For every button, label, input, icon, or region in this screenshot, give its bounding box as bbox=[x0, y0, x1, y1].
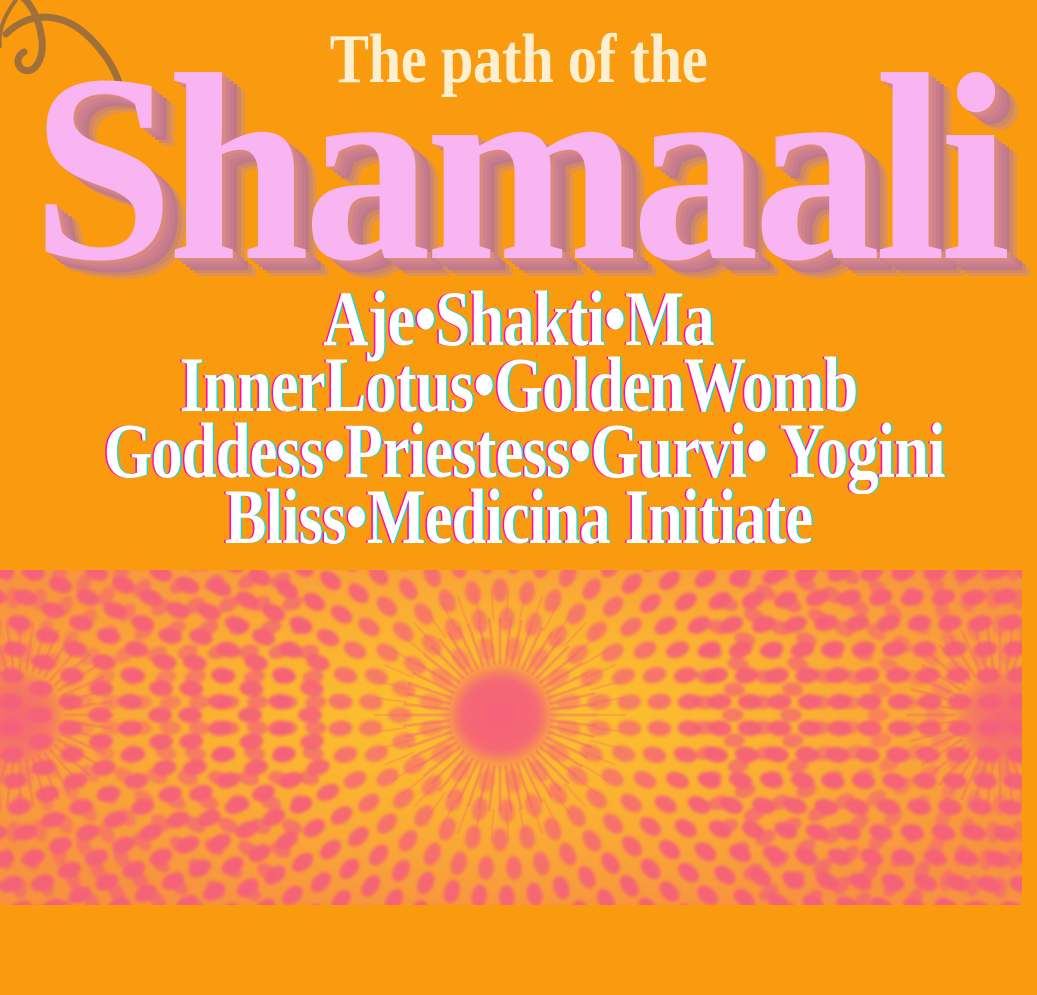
term-list: Aje•Shakti•Ma InnerLotus•GoldenWomb Godd… bbox=[0, 286, 1037, 550]
page-eyebrow: The path of the bbox=[83, 18, 954, 102]
headline-block: Shamaali The path of the bbox=[0, 0, 1037, 280]
mandala-pattern-svg bbox=[0, 570, 1022, 905]
poster-canvas: Shamaali The path of the Aje•Shakti•Ma I… bbox=[0, 0, 1037, 995]
mandala-pattern-band bbox=[0, 570, 1022, 905]
term-line-4: Bliss•Medicina Initiate bbox=[104, 484, 934, 550]
